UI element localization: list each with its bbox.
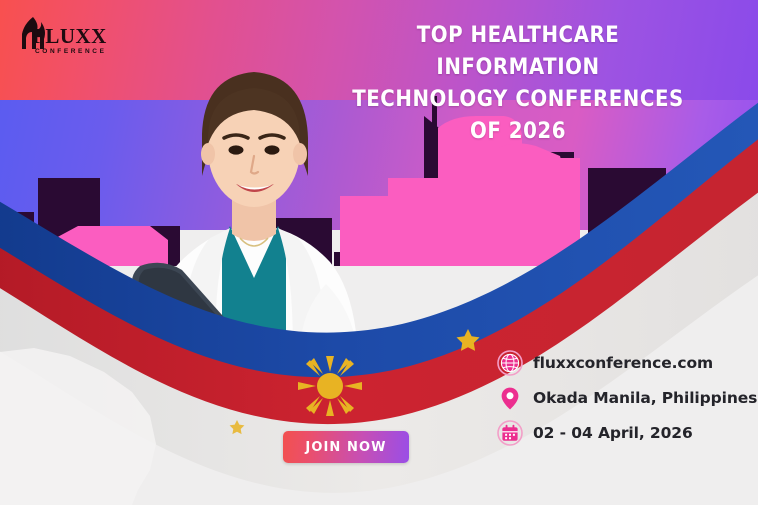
contact-row-location[interactable]: Okada Manila, Philippines: [497, 380, 758, 415]
torn-paper-left-sliver: [0, 348, 156, 505]
logo-subtitle: CONFERENCE: [35, 48, 107, 55]
contact-info-block: fluxxconference.com Okada Manila, Philip…: [497, 345, 758, 450]
location-pin-icon: [497, 385, 523, 411]
brand-logo[interactable]: FLUXX CONFERENCE: [18, 16, 114, 62]
page-title: TOP HEALTHCARE INFORMATION TECHNOLOGY CO…: [342, 20, 694, 148]
headline-line-1: TOP HEALTHCARE INFORMATION: [417, 22, 620, 80]
logo-wordmark: FLUXX: [32, 26, 107, 47]
location-label: Okada Manila, Philippines: [533, 389, 757, 407]
headline-line-2: TECHNOLOGY CONFERENCES OF 2026: [342, 84, 694, 148]
philippine-sun-icon: [298, 356, 362, 416]
join-now-button[interactable]: JOIN NOW: [283, 431, 409, 463]
calendar-icon: [497, 420, 523, 446]
philippine-stars: [230, 329, 480, 434]
website-label: fluxxconference.com: [533, 354, 713, 372]
promo-banner: FLUXX CONFERENCE TOP HEALTHCARE INFORMAT…: [0, 0, 758, 505]
clipboard-icon: [132, 263, 249, 366]
contact-row-website[interactable]: fluxxconference.com: [497, 345, 758, 380]
date-label: 02 - 04 April, 2026: [533, 424, 693, 442]
contact-row-date[interactable]: 02 - 04 April, 2026: [497, 415, 758, 450]
globe-icon: [497, 350, 523, 376]
